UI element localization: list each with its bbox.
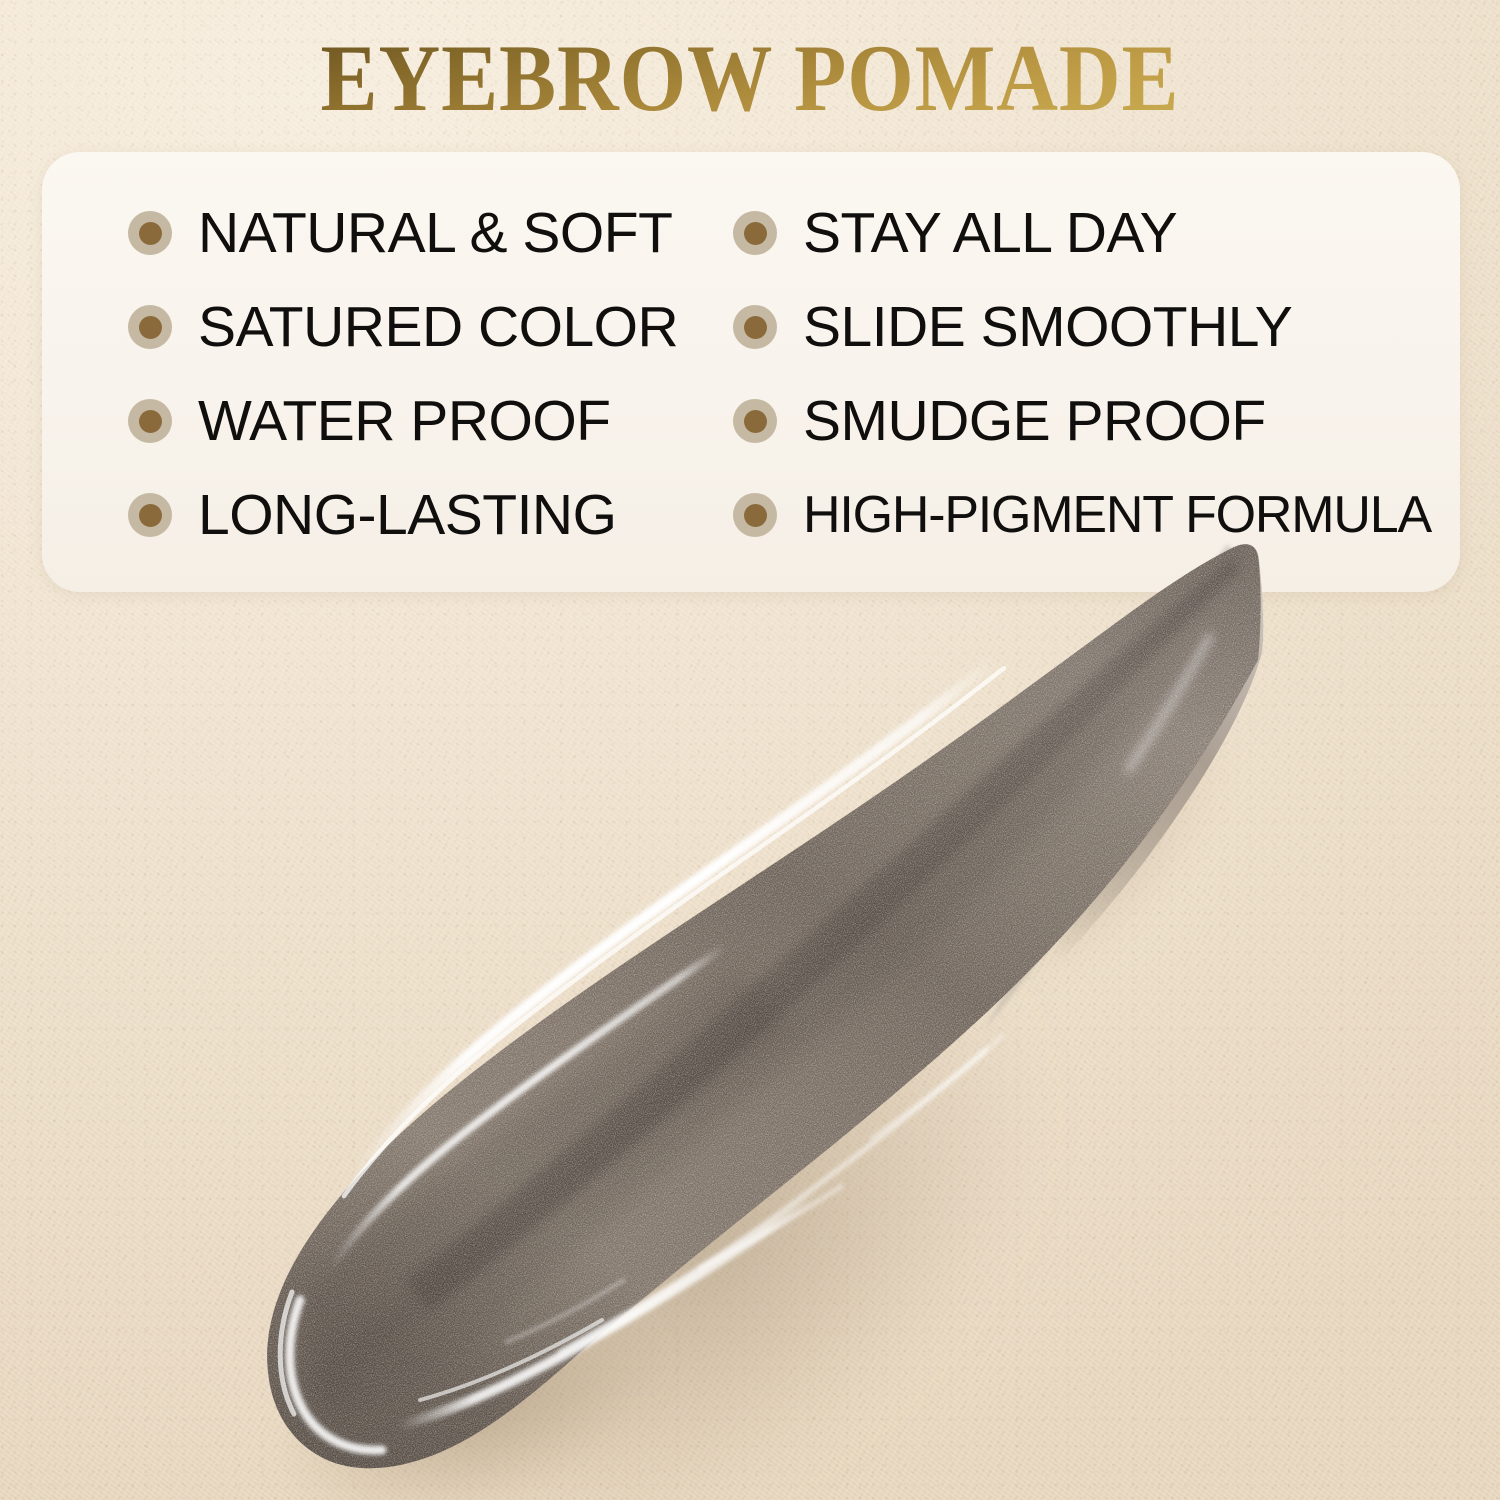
bullet-dot-icon [128, 399, 172, 443]
bullet-dot-icon [128, 305, 172, 349]
bullet-dot-icon [733, 399, 777, 443]
bullet-dot-icon [128, 493, 172, 537]
feature-item-long-lasting: LONG-LASTING [128, 485, 733, 545]
feature-label: NATURAL & SOFT [198, 203, 672, 263]
feature-item-natural-soft: NATURAL & SOFT [128, 203, 733, 263]
feature-card: NATURAL & SOFT STAY ALL DAY SATURED COLO… [42, 152, 1460, 592]
bullet-dot-icon [733, 305, 777, 349]
bullet-dot-icon [128, 211, 172, 255]
feature-item-smudge-proof: SMUDGE PROOF [733, 391, 1438, 451]
feature-item-water-proof: WATER PROOF [128, 391, 733, 451]
feature-label: SATURED COLOR [198, 297, 678, 357]
feature-item-satured-color: SATURED COLOR [128, 297, 733, 357]
feature-label: LONG-LASTING [198, 485, 616, 545]
feature-item-stay-all-day: STAY ALL DAY [733, 203, 1438, 263]
bullet-dot-icon [733, 493, 777, 537]
feature-item-slide-smoothly: SLIDE SMOOTHLY [733, 297, 1438, 357]
feature-label: HIGH-PIGMENT FORMULA [803, 485, 1431, 545]
feature-label: STAY ALL DAY [803, 203, 1177, 263]
feature-label: WATER PROOF [198, 391, 610, 451]
page-title: EYEBROW POMADE [75, 22, 1425, 134]
feature-item-high-pigment-formula: HIGH-PIGMENT FORMULA [733, 485, 1438, 545]
bullet-dot-icon [733, 211, 777, 255]
feature-label: SLIDE SMOOTHLY [803, 297, 1292, 357]
feature-label: SMUDGE PROOF [803, 391, 1266, 451]
feature-grid: NATURAL & SOFT STAY ALL DAY SATURED COLO… [42, 152, 1460, 592]
